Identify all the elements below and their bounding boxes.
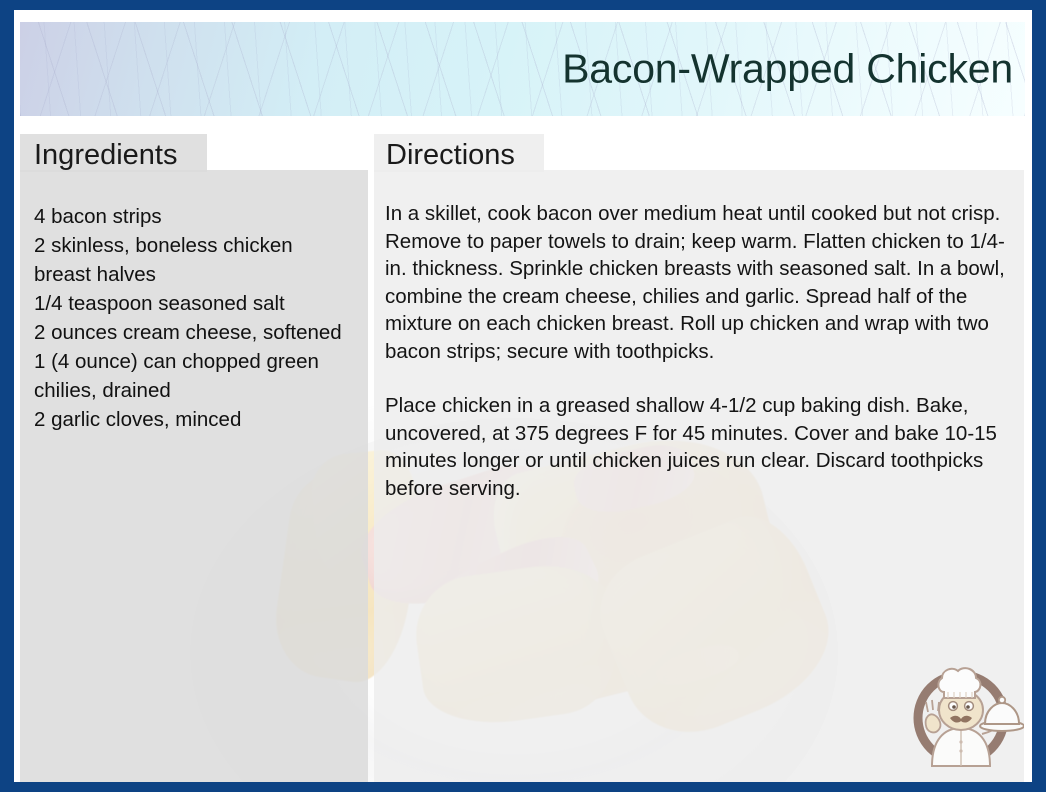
page-title: Bacon-Wrapped Chicken — [562, 47, 1013, 90]
list-item: chilies, drained — [34, 376, 364, 405]
cloche-lid — [985, 703, 1019, 724]
list-item: 1/4 teaspoon seasoned salt — [34, 289, 364, 318]
directions-paragraph-2: Place chicken in a greased shallow 4-1/2… — [385, 392, 1019, 502]
list-item: 4 bacon strips — [34, 202, 364, 231]
list-item: 2 garlic cloves, minced — [34, 405, 364, 434]
chef-mascot-logo — [898, 648, 1024, 772]
directions-paragraph-1: In a skillet, cook bacon over medium hea… — [385, 200, 1019, 365]
recipe-slide: Bacon-Wrapped Chicken Ingredients 4 baco… — [0, 0, 1046, 792]
directions-body: In a skillet, cook bacon over medium hea… — [385, 200, 1019, 502]
list-item: 1 (4 ounce) can chopped green — [34, 347, 364, 376]
slide-inner-canvas: Bacon-Wrapped Chicken Ingredients 4 baco… — [14, 10, 1032, 782]
title-banner: Bacon-Wrapped Chicken — [20, 22, 1025, 116]
chef-hand — [926, 714, 941, 732]
directions-heading: Directions — [386, 138, 515, 172]
list-item: 2 ounces cream cheese, softened — [34, 318, 364, 347]
list-item: breast halves — [34, 260, 364, 289]
paragraph-spacer — [385, 365, 1019, 392]
list-item: 2 skinless, boneless chicken — [34, 231, 364, 260]
ingredients-list: 4 bacon strips 2 skinless, boneless chic… — [34, 202, 364, 434]
ingredients-heading: Ingredients — [34, 138, 178, 172]
